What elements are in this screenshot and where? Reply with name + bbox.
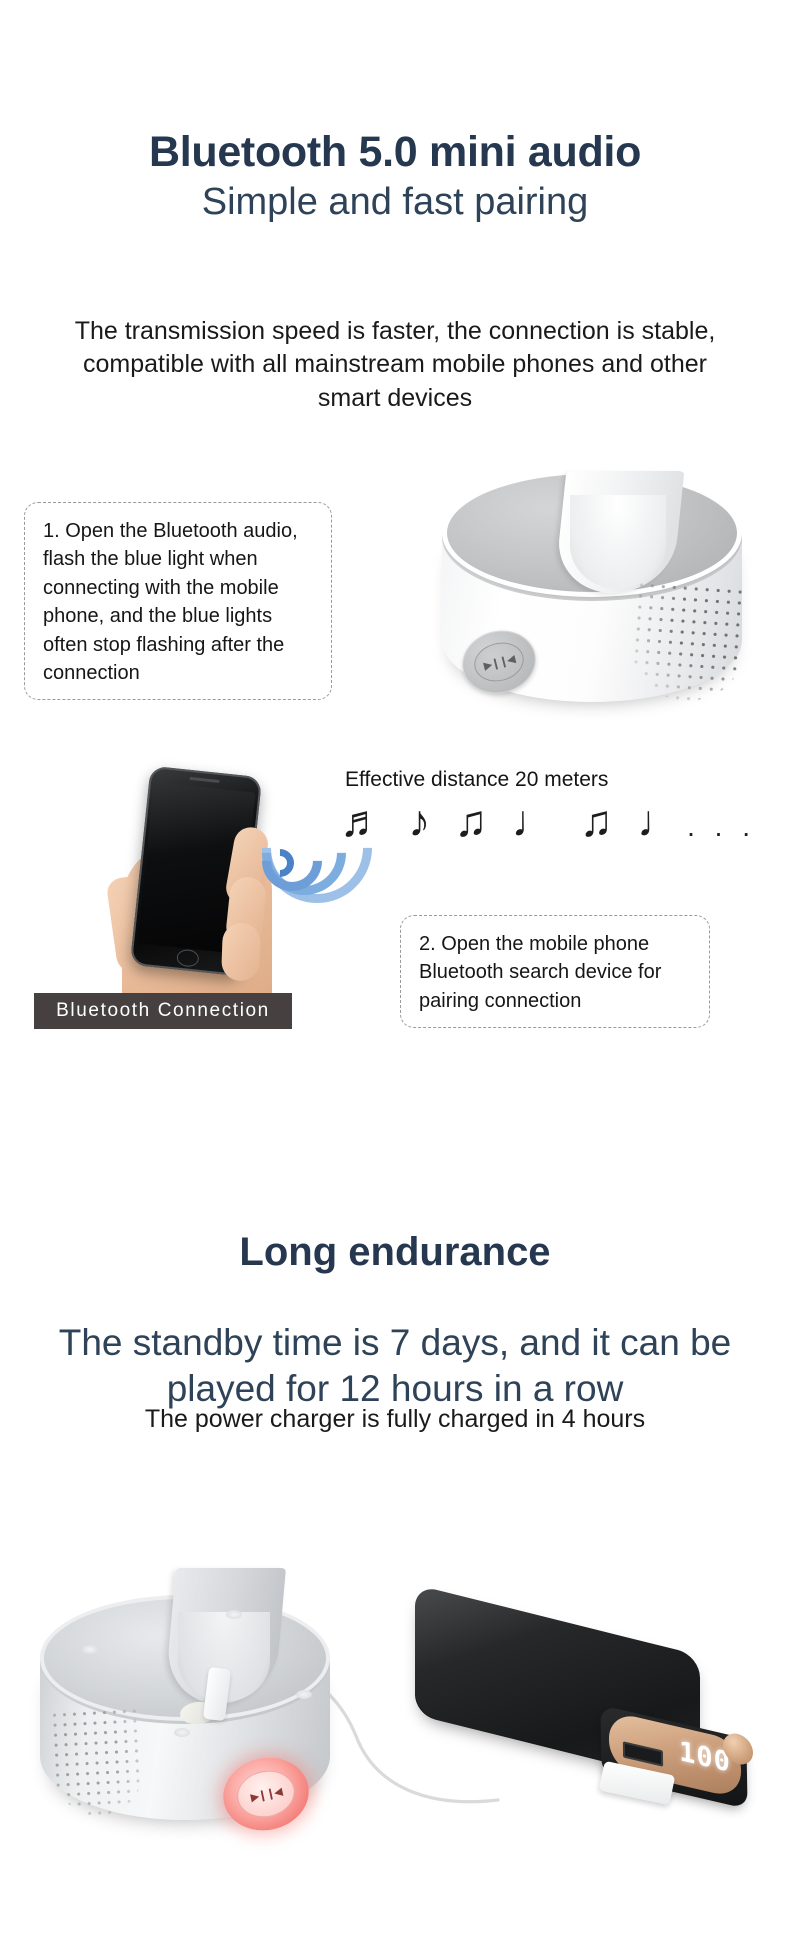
power-bank-image: 100 bbox=[405, 1610, 765, 1840]
silver-speaker-dot-2 bbox=[226, 1610, 242, 1619]
page-subtitle: Simple and fast pairing bbox=[0, 181, 790, 225]
page-title: Bluetooth 5.0 mini audio bbox=[0, 130, 790, 175]
effective-distance-label: Effective distance 20 meters bbox=[345, 768, 675, 792]
callout-step-1: 1. Open the Bluetooth audio, flash the b… bbox=[24, 502, 332, 700]
bluetooth-speaker-image: ▶❙❙◀ bbox=[420, 455, 780, 745]
finger-3 bbox=[221, 922, 261, 981]
callout-step-2: 2. Open the mobile phone Bluetooth searc… bbox=[400, 915, 710, 1028]
silver-speaker-dot-3 bbox=[174, 1728, 190, 1737]
endurance-title: Long endurance bbox=[0, 1230, 790, 1274]
silver-speaker-dot-1 bbox=[82, 1645, 98, 1654]
music-notes-ellipsis: . . . bbox=[687, 811, 756, 842]
section2-heading-group: Long endurance bbox=[0, 1230, 790, 1274]
endurance-description: The power charger is fully charged in 4 … bbox=[35, 1405, 755, 1434]
play-pause-icon: ▶❙❙◀ bbox=[233, 1765, 299, 1822]
music-notes-row: ♬ ♪ ♫ ♩ ♫ ♩. . . bbox=[340, 800, 770, 844]
silver-speaker-image: ▶❙❙◀ bbox=[30, 1550, 360, 1850]
silver-speaker-dot-4 bbox=[296, 1690, 312, 1699]
bluetooth-connection-caption-text: Bluetooth Connection bbox=[56, 1000, 270, 1022]
bluetooth-connection-caption: Bluetooth Connection bbox=[34, 993, 292, 1029]
section1-heading-group: Bluetooth 5.0 mini audio Simple and fast… bbox=[0, 130, 790, 225]
speaker-notch-inner bbox=[570, 495, 666, 589]
callout-step-2-text: 2. Open the mobile phone Bluetooth searc… bbox=[419, 933, 661, 1012]
callout-step-1-text: 1. Open the Bluetooth audio, flash the b… bbox=[43, 520, 298, 684]
phone-earpiece bbox=[189, 777, 219, 783]
play-pause-icon: ▶❙❙◀ bbox=[470, 638, 528, 687]
endurance-subtitle: The standby time is 7 days, and it can b… bbox=[35, 1320, 755, 1412]
hand-holding-phone-image bbox=[110, 765, 310, 1025]
product-detail-page: Bluetooth 5.0 mini audio Simple and fast… bbox=[0, 0, 790, 1954]
music-notes-glyphs: ♬ ♪ ♫ ♩ ♫ ♩ bbox=[340, 797, 687, 846]
phone-home-button bbox=[176, 949, 200, 968]
section1-description: The transmission speed is faster, the co… bbox=[70, 315, 720, 415]
